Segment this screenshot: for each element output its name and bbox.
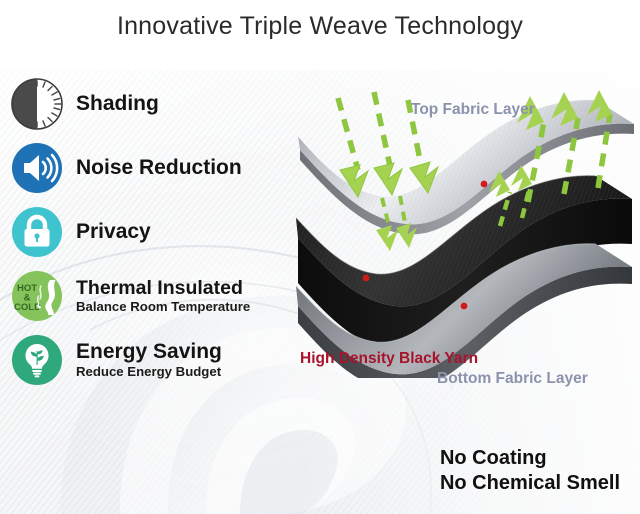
cold-label: COLD	[14, 302, 41, 313]
feature-item-noise-reduction: Noise Reduction	[10, 140, 272, 196]
feature-subtitle: Balance Room Temperature	[76, 299, 250, 314]
feature-item-thermal-insulated: HOT & COLD Thermal Insulated Balance Roo…	[10, 268, 272, 324]
feature-item-energy-saving: Energy Saving Reduce Energy Budget	[10, 332, 272, 388]
speaker-sound-icon	[10, 141, 64, 195]
label-bottom-fabric-layer: Bottom Fabric Layer	[437, 370, 588, 388]
feature-title: Privacy	[76, 221, 151, 243]
feature-item-privacy: Privacy	[10, 204, 272, 260]
feature-subtitle: Reduce Energy Budget	[76, 364, 222, 379]
hot-cold-icon: HOT & COLD	[10, 269, 64, 323]
lightbulb-leaf-icon	[10, 333, 64, 387]
infographic-root: Innovative Triple Weave Technology	[0, 0, 640, 514]
bottom-note-no-chemical-smell: No Chemical Smell	[440, 471, 620, 496]
triple-weave-diagram	[296, 78, 640, 378]
feature-title: Noise Reduction	[76, 157, 242, 179]
feature-title: Energy Saving	[76, 341, 222, 363]
page-title: Innovative Triple Weave Technology	[0, 12, 640, 41]
bottom-notes: No Coating No Chemical Smell	[440, 446, 620, 496]
feature-text-shading: Shading	[76, 93, 159, 115]
feature-text-thermal-insulated: Thermal Insulated Balance Room Temperatu…	[76, 278, 250, 314]
feature-item-shading: Shading	[10, 76, 272, 132]
label-high-density-black-yarn: High Density Black Yarn	[300, 350, 478, 368]
sun-shading-icon	[10, 77, 64, 131]
feature-list: Shading Noise Reduction	[10, 76, 272, 396]
triple-weave-diagram-svg	[296, 78, 640, 378]
feature-title: Shading	[76, 93, 159, 115]
feature-text-noise-reduction: Noise Reduction	[76, 157, 242, 179]
padlock-icon	[10, 205, 64, 259]
feature-text-energy-saving: Energy Saving Reduce Energy Budget	[76, 341, 222, 379]
label-top-fabric-layer: Top Fabric Layer	[411, 101, 535, 119]
feature-text-privacy: Privacy	[76, 221, 151, 243]
bottom-note-no-coating: No Coating	[440, 446, 620, 471]
feature-title: Thermal Insulated	[76, 278, 250, 298]
